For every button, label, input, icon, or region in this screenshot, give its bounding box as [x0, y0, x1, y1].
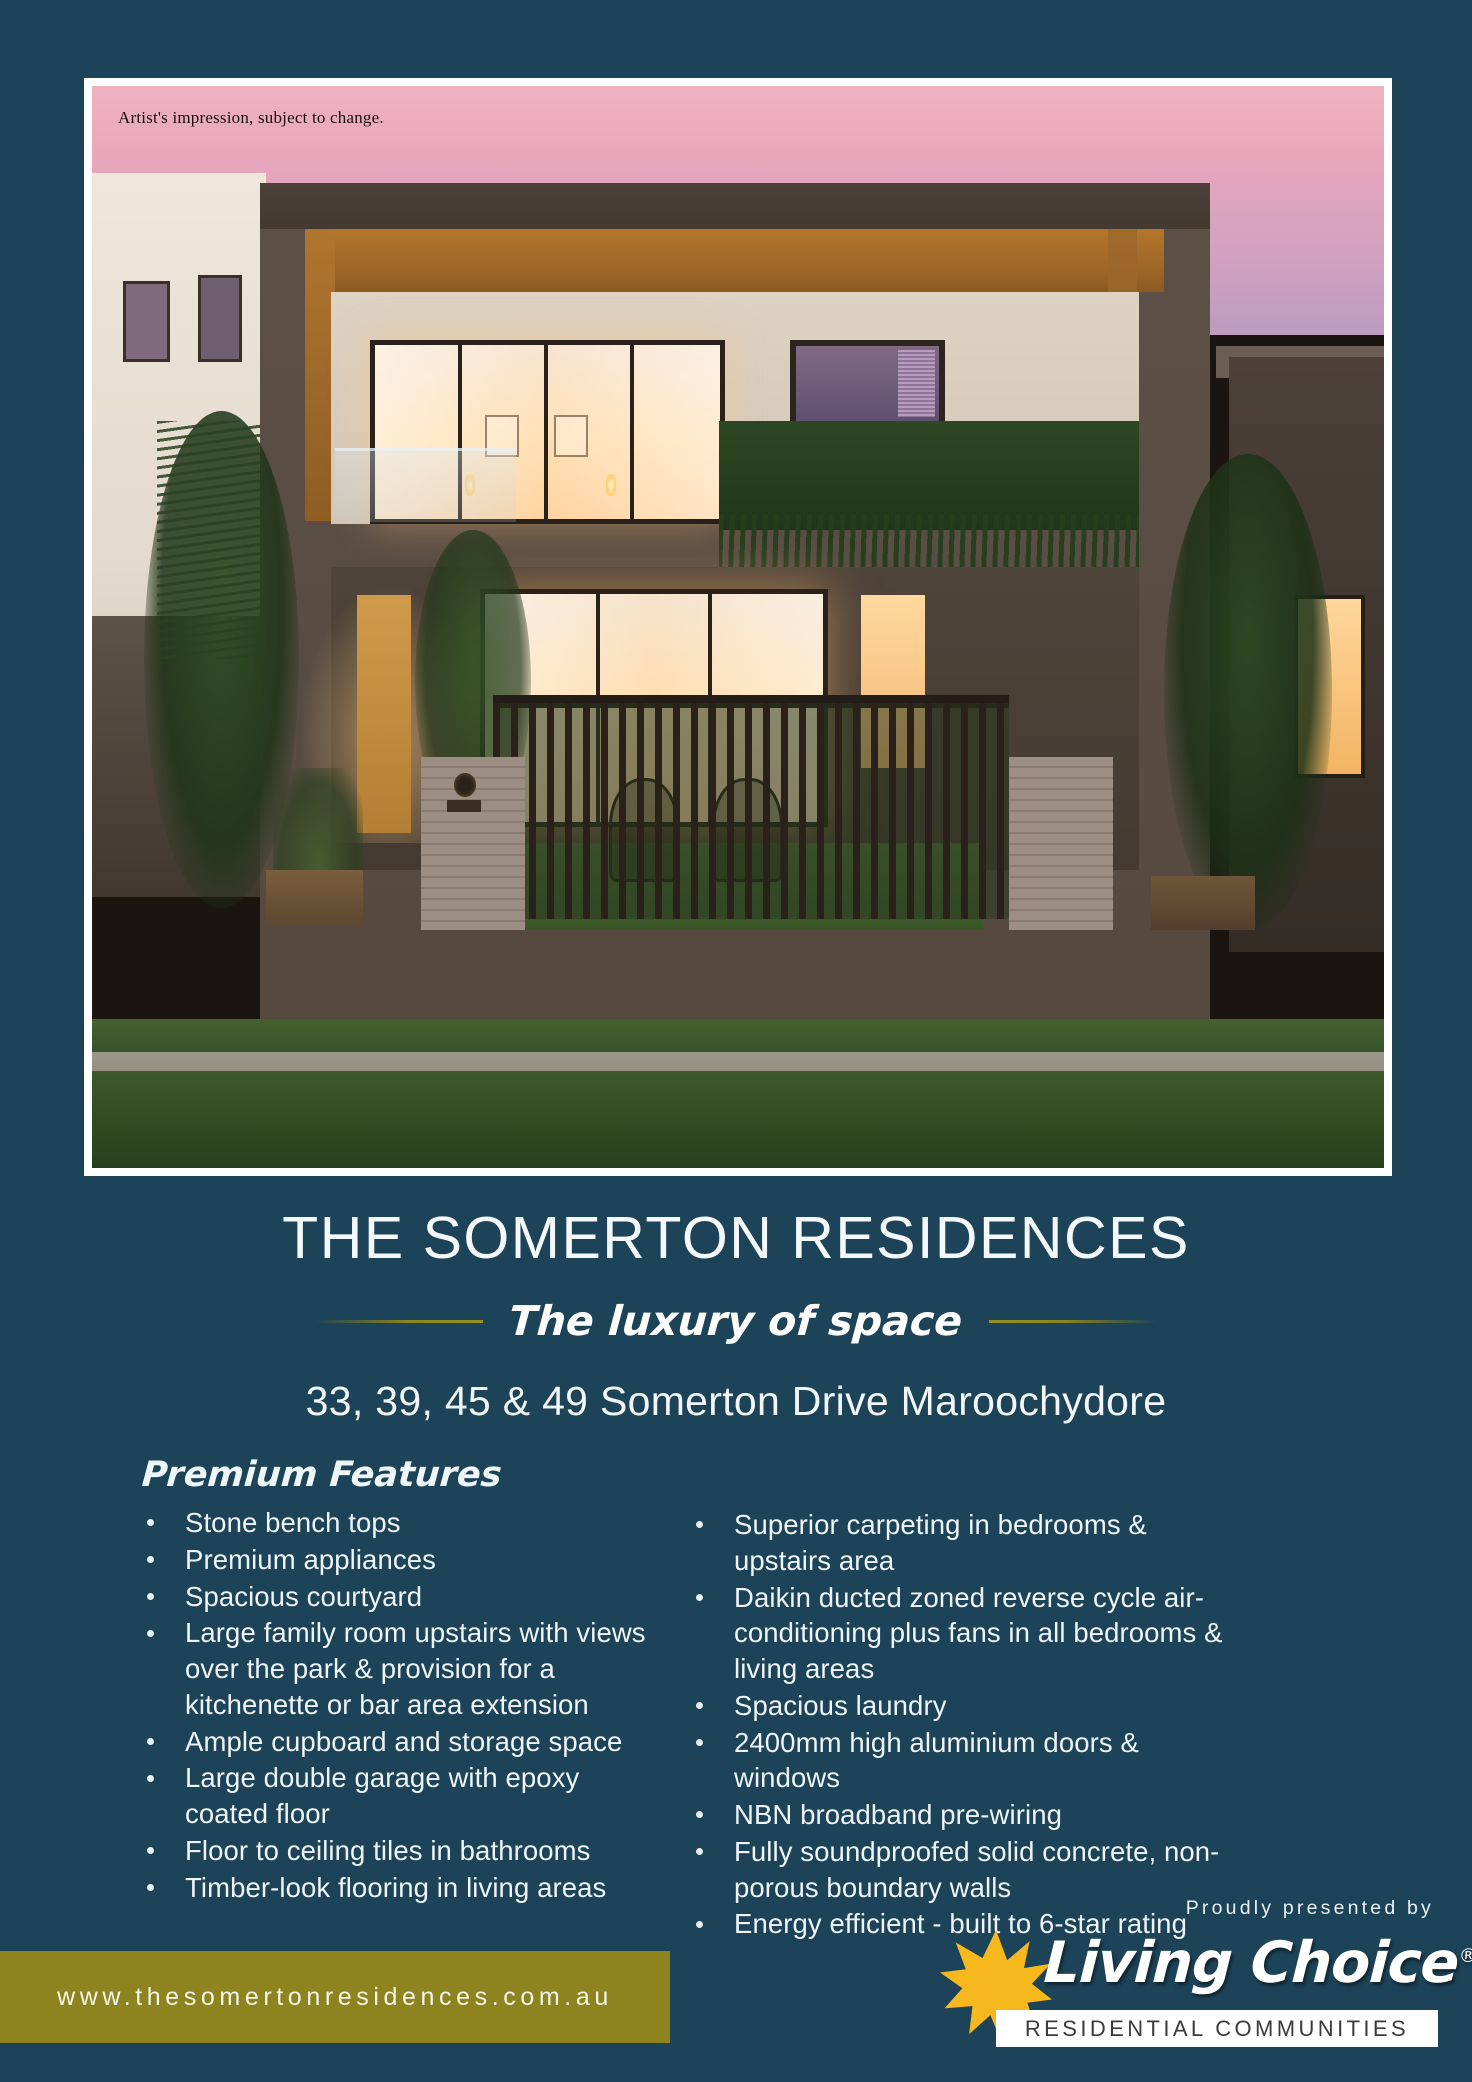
feature-text: Floor to ceiling tiles in bathrooms: [185, 1835, 591, 1866]
brick-pier-right: [1009, 757, 1112, 930]
bullet-icon: [696, 1739, 703, 1746]
courtyard-slat-fence: [493, 703, 1010, 919]
list-item: Premium appliances: [138, 1542, 663, 1578]
feature-text: Daikin ducted zoned reverse cycle air-co…: [734, 1582, 1223, 1685]
neighbour-window-left-2: [198, 275, 242, 362]
list-item: Floor to ceiling tiles in bathrooms: [138, 1833, 663, 1869]
feature-text: NBN broadband pre-wiring: [734, 1799, 1062, 1830]
window-blind: [898, 350, 935, 417]
letterbox-slot: [447, 800, 481, 812]
bullet-icon: [696, 1702, 703, 1709]
logo-name-text: Living Choice: [1042, 1930, 1460, 1996]
living-choice-logo: Living Choice® RESIDENTIAL COMMUNITIES: [926, 1924, 1438, 2050]
list-item: Superior carpeting in bedrooms & upstair…: [687, 1507, 1247, 1579]
hero-image: Artist's impression, subject to change.: [92, 86, 1384, 1168]
bullet-icon: [147, 1519, 154, 1526]
upper-bedroom-window: [790, 340, 945, 427]
balcony-glass-balustrade: [335, 448, 516, 521]
feature-text: Large family room upstairs with views ov…: [185, 1617, 646, 1720]
list-item: Fully soundproofed solid concrete, non-p…: [687, 1834, 1247, 1906]
feature-text: Timber-look flooring in living areas: [185, 1872, 606, 1903]
list-item: Stone bench tops: [138, 1505, 663, 1541]
bullet-icon: [147, 1847, 154, 1854]
divider-line-left: [315, 1320, 483, 1323]
bullet-icon: [147, 1775, 154, 1782]
list-item: 2400mm high aluminium doors & windows: [687, 1725, 1247, 1797]
list-item: NBN broadband pre-wiring: [687, 1797, 1247, 1833]
feature-text: Superior carpeting in bedrooms & upstair…: [734, 1509, 1147, 1576]
features-column-right: Superior carpeting in bedrooms & upstair…: [687, 1505, 1247, 1943]
bullet-icon: [147, 1556, 154, 1563]
list-item: Ample cupboard and storage space: [138, 1724, 663, 1760]
logo-subtitle: RESIDENTIAL COMMUNITIES: [1025, 2016, 1409, 2042]
feature-text: Large double garage with epoxy coated fl…: [185, 1762, 579, 1829]
bullet-icon: [147, 1884, 154, 1891]
list-item: Daikin ducted zoned reverse cycle air-co…: [687, 1580, 1247, 1687]
tagline: The luxury of space: [508, 1297, 965, 1345]
features-columns: Stone bench tops Premium appliances Spac…: [138, 1505, 1348, 1943]
balcony-planter: [719, 421, 1139, 529]
website-url-bar[interactable]: www.thesomertonresidences.com.au: [0, 1951, 670, 2043]
bullet-icon: [696, 1848, 703, 1855]
registered-trademark-icon: ®: [1458, 1945, 1472, 1967]
features-list-right: Superior carpeting in bedrooms & upstair…: [687, 1507, 1247, 1942]
artist-impression-disclaimer: Artist's impression, subject to change.: [118, 108, 384, 128]
list-item: Timber-look flooring in living areas: [138, 1870, 663, 1906]
proudly-presented-by-label: Proudly presented by: [914, 1897, 1434, 1920]
bullet-icon: [696, 1521, 703, 1528]
features-list-left: Stone bench tops Premium appliances Spac…: [138, 1505, 663, 1905]
feature-text: Fully soundproofed solid concrete, non-p…: [734, 1836, 1219, 1903]
bullet-icon: [147, 1738, 154, 1745]
letterbox-hole: [454, 773, 476, 797]
tree-right: [1164, 454, 1332, 930]
bullet-icon: [696, 1811, 703, 1818]
feature-text: 2400mm high aluminium doors & windows: [734, 1727, 1139, 1794]
list-item: Spacious laundry: [687, 1688, 1247, 1724]
list-item: Large family room upstairs with views ov…: [138, 1615, 663, 1722]
features-heading: Premium Features: [141, 1455, 503, 1495]
logo-subtitle-bar: RESIDENTIAL COMMUNITIES: [996, 2010, 1438, 2047]
page-title: THE SOMERTON RESIDENCES: [0, 1208, 1472, 1268]
logo-wordmark: Living Choice®: [1042, 1930, 1472, 1996]
bullet-icon: [696, 1921, 703, 1928]
bullet-icon: [147, 1630, 154, 1637]
features-column-left: Stone bench tops Premium appliances Spac…: [138, 1505, 663, 1906]
feature-text: Spacious laundry: [734, 1690, 947, 1721]
lawn-strip: [92, 1019, 1384, 1056]
list-item: Spacious courtyard: [138, 1579, 663, 1615]
planter-box-right: [1151, 876, 1254, 930]
feature-text: Ample cupboard and storage space: [185, 1726, 622, 1757]
divider-line-right: [989, 1320, 1157, 1323]
feature-text: Spacious courtyard: [185, 1581, 422, 1612]
vine-foliage: [157, 421, 260, 659]
neighbour-window-left-1: [123, 281, 170, 362]
tagline-row: The luxury of space: [0, 1297, 1472, 1345]
bullet-icon: [147, 1593, 154, 1600]
timber-soffit: [305, 229, 1164, 292]
hero-image-frame: Artist's impression, subject to change.: [84, 78, 1392, 1176]
planter-box-left: [266, 870, 363, 924]
front-grass: [92, 1071, 1384, 1168]
property-address: 33, 39, 45 & 49 Somerton Drive Maroochyd…: [0, 1378, 1472, 1425]
roof-fascia: [260, 183, 1210, 228]
list-item: Large double garage with epoxy coated fl…: [138, 1760, 663, 1832]
feature-text: Premium appliances: [185, 1544, 436, 1575]
feature-text: Stone bench tops: [185, 1507, 401, 1538]
timber-entry-door: [357, 595, 411, 833]
website-url[interactable]: www.thesomertonresidences.com.au: [57, 1983, 613, 2012]
bullet-icon: [696, 1594, 703, 1601]
